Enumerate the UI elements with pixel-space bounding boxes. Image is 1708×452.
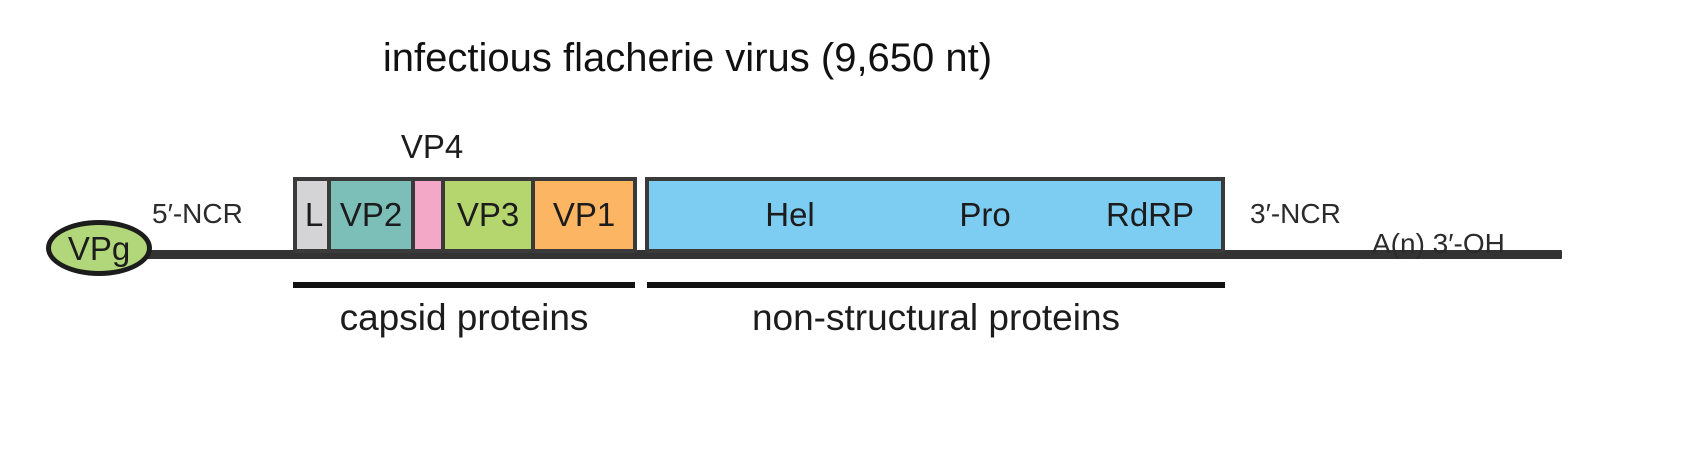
orf-box-vp2: VP2 <box>327 177 415 253</box>
figure-title: infectious flacherie virus (9,650 nt) <box>0 36 1375 81</box>
vpg-label: VPg <box>68 230 130 268</box>
domain-label-rdrp: RdRP <box>1035 177 1265 253</box>
orf-label-vp1: VP1 <box>553 196 615 234</box>
group-label-capsid: capsid proteins <box>293 297 635 339</box>
orf-box-vp4 <box>411 177 445 253</box>
poly-a-terminus-label: A(n) 3′-OH <box>1372 228 1505 260</box>
bracket-capsid <box>293 282 635 288</box>
orf-box-vp3: VP3 <box>441 177 535 253</box>
orf-box-vp1: VP1 <box>531 177 637 253</box>
group-label-nonstructural: non-structural proteins <box>647 297 1225 339</box>
vp4-callout-label: VP4 <box>362 128 502 166</box>
bracket-nonstructural <box>647 282 1225 288</box>
orf-label-vp2: VP2 <box>340 196 402 234</box>
five-prime-ncr-label: 5′-NCR <box>152 198 243 230</box>
genome-diagram: infectious flacherie virus (9,650 nt) VP… <box>0 0 1708 452</box>
orf-label-vp3: VP3 <box>457 196 519 234</box>
vpg-protein: VPg <box>46 220 152 276</box>
orf-label-l: L <box>305 196 323 234</box>
